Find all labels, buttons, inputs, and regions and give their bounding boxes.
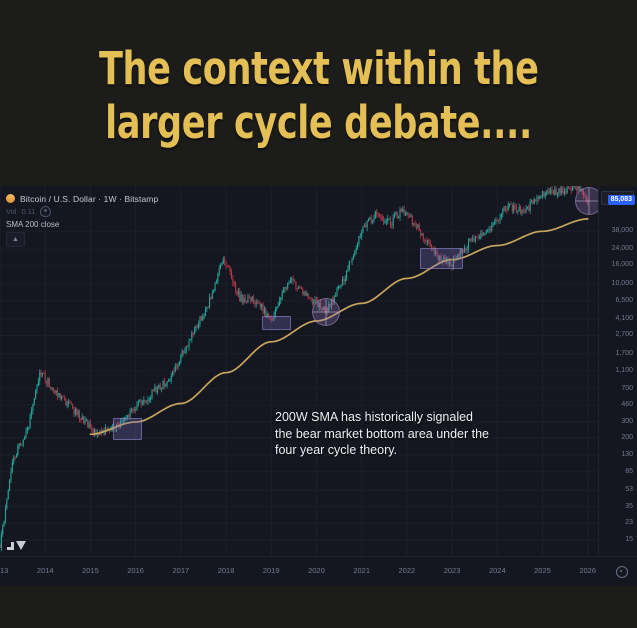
price-tick: 10,000 (612, 280, 633, 287)
eye-icon[interactable] (40, 206, 51, 217)
collapse-icon[interactable]: ▲ (6, 232, 25, 247)
symbol-label: Bitcoin / U.S. Dollar · 1W · Bitstamp (20, 194, 158, 204)
price-tick: 38,000 (612, 227, 633, 234)
time-tick: 2014 (37, 566, 54, 575)
chart-annotation-text: 200W SMA has historically signaled the b… (275, 409, 575, 459)
time-tick: 2023 (444, 566, 461, 575)
price-tick: 24,000 (612, 245, 633, 252)
title-line-1: The context within the (99, 41, 539, 97)
price-tick: 16,000 (612, 261, 633, 268)
price-tick: 2,700 (615, 331, 633, 338)
time-tick: 2019 (263, 566, 280, 575)
price-tick: 53 (625, 486, 633, 493)
price-tick: 4,100 (615, 315, 633, 322)
price-tick: 35 (625, 503, 633, 510)
annotation-line-3: four year cycle theory. (275, 442, 575, 459)
volume-value: 0.11 (21, 207, 35, 216)
price-tick: 15 (625, 536, 633, 543)
price-tick: 1,100 (615, 367, 633, 374)
bear-bottom-box-2015[interactable] (113, 418, 142, 440)
chart-legend: Bitcoin / U.S. Dollar · 1W · Bitstamp Vo… (6, 192, 158, 247)
screenshot-root: The context within the larger cycle deba… (0, 0, 637, 628)
price-tick: 200 (621, 434, 633, 441)
volume-row: Vol 0.11 (6, 205, 158, 217)
gear-icon[interactable] (616, 566, 628, 578)
symbol-row[interactable]: Bitcoin / U.S. Dollar · 1W · Bitstamp (6, 192, 158, 205)
bitcoin-icon (6, 194, 15, 203)
time-tick: 2026 (579, 566, 596, 575)
annotation-line-1: 200W SMA has historically signaled (275, 409, 575, 426)
price-tick: 23 (625, 519, 633, 526)
current-price-badge: 85,083 (608, 195, 635, 205)
time-tick: 2015 (82, 566, 99, 575)
title-banner: The context within the larger cycle deba… (0, 0, 637, 186)
time-tick: 2017 (172, 566, 189, 575)
price-tick: 130 (621, 451, 633, 458)
price-tick: 700 (621, 385, 633, 392)
time-tick: 2025 (534, 566, 551, 575)
time-tick: 2016 (127, 566, 144, 575)
price-tick: 85 (625, 468, 633, 475)
tradingview-chart[interactable]: Bitcoin / U.S. Dollar · 1W · Bitstamp Vo… (0, 186, 637, 586)
time-tick: 2022 (399, 566, 416, 575)
time-scale[interactable]: 2013201420152016201720182019202020212022… (0, 556, 637, 587)
time-tick: 2024 (489, 566, 506, 575)
time-tick: 2020 (308, 566, 325, 575)
indicator-label: SMA 200 close (6, 220, 158, 229)
time-tick: 2021 (353, 566, 370, 575)
title-line-2: larger cycle debate.... (105, 95, 532, 151)
footer-band (0, 586, 637, 628)
volume-label: Vol (6, 207, 16, 216)
current-price-circle[interactable] (575, 187, 599, 215)
annotation-line-2: the bear market bottom area under the (275, 426, 575, 443)
price-tick: 300 (621, 418, 633, 425)
bear-bottom-box-2019[interactable] (262, 316, 291, 329)
time-tick: 2013 (0, 566, 8, 575)
tradingview-logo (7, 541, 26, 550)
time-tick: 2018 (218, 566, 235, 575)
price-tick: 460 (621, 401, 633, 408)
bear-bottom-box-2022[interactable] (420, 248, 463, 269)
price-tick: 6,500 (615, 297, 633, 304)
price-tick: 1,700 (615, 350, 633, 357)
price-scale[interactable]: USD ▾ 38,00024,00016,00010,0006,5004,100… (598, 186, 637, 556)
